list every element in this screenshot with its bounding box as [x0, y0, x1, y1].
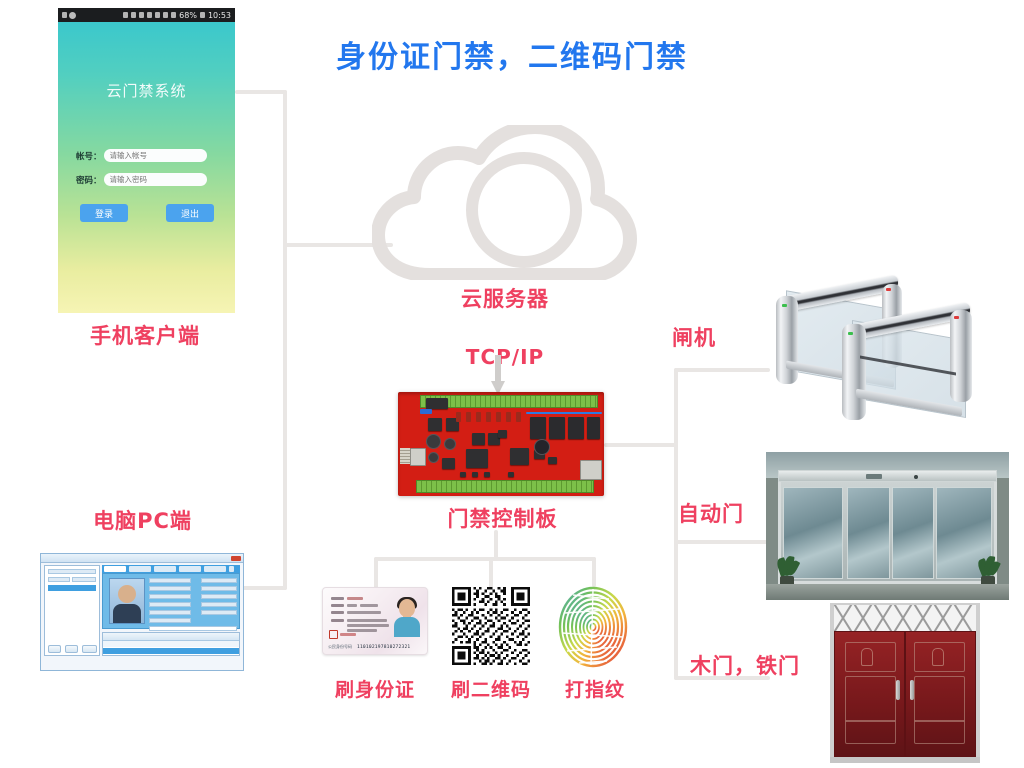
table-row	[103, 648, 239, 654]
turnstile-caption: 闸机	[672, 322, 716, 352]
password-input[interactable]	[104, 173, 207, 186]
line-bus-idcard	[374, 557, 378, 589]
id-field-sex	[331, 604, 378, 607]
resistor-7	[516, 412, 521, 422]
id-field-birth	[331, 611, 381, 614]
battery-icon	[200, 12, 205, 18]
cpld-chip	[510, 448, 529, 465]
gate-post-front-left	[842, 324, 866, 420]
relay-3	[568, 417, 584, 439]
pc-field-7	[201, 578, 237, 583]
resistor-1	[456, 412, 461, 422]
pc-field-6	[149, 618, 191, 623]
bluetooth-icon	[123, 12, 128, 18]
pc-filter-field-2	[72, 577, 96, 582]
table-row	[103, 641, 239, 647]
gate-led-green-front	[848, 332, 853, 335]
door-sensor-icon	[914, 475, 918, 479]
gate-led-red-front	[954, 316, 959, 319]
pc-detail-panel	[102, 573, 240, 629]
gate-post-front-right	[950, 310, 972, 402]
pc-field-4	[149, 602, 191, 607]
pc-tab-2	[129, 566, 151, 572]
id-card-caption: 刷身份证	[318, 675, 432, 702]
status-bar-left-icons	[62, 12, 76, 19]
arrow-down-svg	[491, 355, 505, 395]
electrolytic-cap-2	[444, 438, 456, 450]
mcu-chip	[466, 449, 488, 468]
pc-tabbar	[102, 565, 240, 573]
line-inputs-bus	[374, 557, 596, 561]
person-photo	[109, 578, 145, 624]
pc-records-table	[102, 632, 240, 656]
pin-header-left	[400, 448, 410, 464]
plant-left	[776, 556, 798, 586]
account-input[interactable]	[104, 149, 207, 162]
relay-wire	[526, 412, 602, 414]
ic-1	[428, 418, 442, 431]
mail-icon	[139, 12, 144, 18]
door-handle-left	[896, 680, 900, 700]
terminal-block-bottom	[416, 480, 594, 493]
id-card-image: 公民身份号码 110102197810272321	[322, 587, 428, 655]
pc-field-3	[149, 594, 191, 599]
pc-field-2	[149, 586, 191, 591]
resistor-4	[486, 412, 491, 422]
resistor-3	[476, 412, 481, 422]
wood-iron-door-caption: 木门，铁门	[690, 650, 800, 680]
relay-2	[549, 417, 565, 439]
smd-4	[508, 472, 514, 477]
phone-client-mockup: 68% 10:53 云门禁系统 帐号： 密码： 登录 退出	[58, 8, 235, 313]
door-frame	[778, 470, 997, 584]
pc-field-5	[149, 610, 191, 615]
smd-1	[460, 472, 466, 477]
id-portrait	[392, 597, 422, 637]
qr-code-svg	[452, 587, 530, 665]
lock-icon	[62, 12, 67, 18]
line-bus-qr	[489, 557, 493, 589]
id-field-address	[331, 619, 387, 622]
qr-code-image	[452, 587, 530, 665]
id-number-label: 公民身份号码	[328, 644, 352, 650]
pc-tab-5	[204, 566, 226, 572]
buzzer	[534, 439, 550, 455]
battery-level: 68%	[179, 11, 197, 20]
pc-tab-3	[154, 566, 176, 572]
resistor-6	[506, 412, 511, 422]
clock: 10:53	[208, 11, 231, 20]
transformer	[426, 398, 448, 409]
pc-software-screenshot	[40, 553, 244, 671]
app-icon	[69, 12, 76, 19]
access-control-board-image	[398, 392, 604, 496]
card-icon	[155, 12, 160, 18]
resistor-5	[496, 412, 501, 422]
blue-capacitor	[420, 409, 432, 414]
logout-button[interactable]: 退出	[166, 204, 214, 222]
line-phone-out	[235, 90, 287, 94]
ethernet-port	[580, 460, 602, 480]
gate-led-green-back	[782, 304, 787, 307]
qr-code-caption: 刷二维码	[434, 675, 548, 702]
id-number-value: 110102197810272321	[357, 645, 410, 650]
app-title: 云门禁系统	[58, 80, 235, 101]
door-threshold	[830, 757, 980, 763]
ground-pavement	[766, 584, 1009, 600]
pc-tab-4	[179, 566, 201, 572]
electrolytic-cap-3	[428, 452, 439, 463]
fingerprint-caption: 打指纹	[538, 675, 652, 702]
door-controller	[866, 474, 882, 479]
pc-filter-field	[48, 577, 70, 582]
iron-door-art	[830, 603, 980, 763]
electrolytic-cap-1	[426, 434, 441, 449]
ic-6	[498, 430, 507, 438]
smd-3	[484, 472, 490, 477]
cloud-svg	[372, 125, 638, 280]
line-trunk-pc	[240, 586, 287, 590]
automatic-door-art	[766, 452, 1009, 600]
account-label: 帐号：	[76, 150, 102, 162]
pc-button-2	[65, 645, 78, 653]
image-icon	[163, 12, 168, 18]
signal-icon	[171, 12, 176, 18]
password-label: 密码：	[76, 174, 102, 186]
protocol-label: TCP/IP	[390, 345, 620, 369]
door-glass-2	[847, 487, 890, 579]
login-button[interactable]: 登录	[80, 204, 128, 222]
pc-tree-selected	[48, 585, 96, 591]
door-transom-grille	[834, 605, 976, 631]
turnstile-art	[764, 278, 1012, 426]
id-field-address-2	[347, 624, 389, 627]
pc-field-1	[149, 578, 191, 583]
id-seal-icon	[329, 630, 338, 639]
account-row: 帐号：	[76, 149, 207, 162]
pc-field-10	[201, 602, 237, 607]
arrow-down-icon	[491, 355, 505, 395]
pc-field-9	[201, 594, 237, 599]
sim-icon	[131, 12, 136, 18]
wood-iron-door-image	[830, 603, 980, 763]
connector-block	[410, 448, 426, 466]
pc-search-field	[48, 569, 96, 574]
page-title-text: 身份证门禁，二维码门禁	[336, 32, 688, 76]
gate-post-back-left	[776, 296, 798, 384]
pc-field-8	[201, 586, 237, 591]
pc-client-caption: 电脑PC端	[40, 505, 245, 535]
id-field-address-3	[347, 629, 377, 632]
diagram-canvas: 身份证门禁，二维码门禁	[0, 0, 1024, 768]
door-glass-3	[892, 487, 935, 579]
pc-field-note	[149, 626, 237, 631]
pc-tree-panel	[44, 565, 100, 656]
door-header-rail	[778, 470, 997, 482]
pc-button-3	[82, 645, 97, 653]
password-row: 密码：	[76, 173, 207, 186]
fingerprint-svg	[557, 583, 629, 668]
id-field-name	[331, 597, 363, 600]
relay-4	[587, 417, 600, 439]
id-card-face: 公民身份号码 110102197810272321	[322, 587, 428, 655]
ic-8	[548, 457, 557, 464]
line-left-trunk	[283, 90, 287, 590]
fingerprint-image	[557, 583, 629, 668]
phone-status-bar: 68% 10:53	[58, 8, 235, 22]
door-leaves	[834, 631, 976, 757]
gate-led-red-back	[886, 288, 891, 291]
door-leaf-right	[905, 631, 976, 757]
automatic-door-caption: 自动门	[678, 498, 744, 528]
close-icon	[231, 556, 241, 561]
automatic-door-image	[766, 452, 1009, 600]
pc-tab-6	[229, 566, 234, 572]
table-header	[103, 633, 239, 641]
line-board-down	[494, 530, 498, 560]
id-field-seal-text	[340, 633, 356, 636]
door-leaf-left	[834, 631, 905, 757]
line-board-right	[604, 443, 678, 447]
door-handle-right	[910, 680, 914, 700]
phone-client-caption: 手机客户端	[45, 320, 245, 350]
ic-5	[442, 458, 455, 469]
board-caption: 门禁控制板	[395, 503, 610, 533]
plant-right	[977, 556, 999, 586]
smd-2	[472, 472, 478, 477]
pc-field-11	[201, 610, 237, 615]
sync-icon	[147, 12, 152, 18]
ic-3	[472, 433, 485, 445]
resistor-2	[466, 412, 471, 422]
pc-titlebar	[41, 554, 243, 563]
relay-1	[530, 417, 546, 439]
pc-button-1	[48, 645, 61, 653]
line-trunk-gate	[674, 368, 770, 372]
pc-window	[40, 553, 244, 671]
turnstile-image	[764, 278, 1012, 426]
status-bar-right: 68% 10:53	[123, 11, 231, 20]
cloud-server-caption: 云服务器	[390, 283, 620, 313]
line-trunk-autodoor	[674, 540, 770, 544]
cloud-server-icon	[372, 125, 638, 280]
pc-tab-active	[104, 566, 126, 572]
